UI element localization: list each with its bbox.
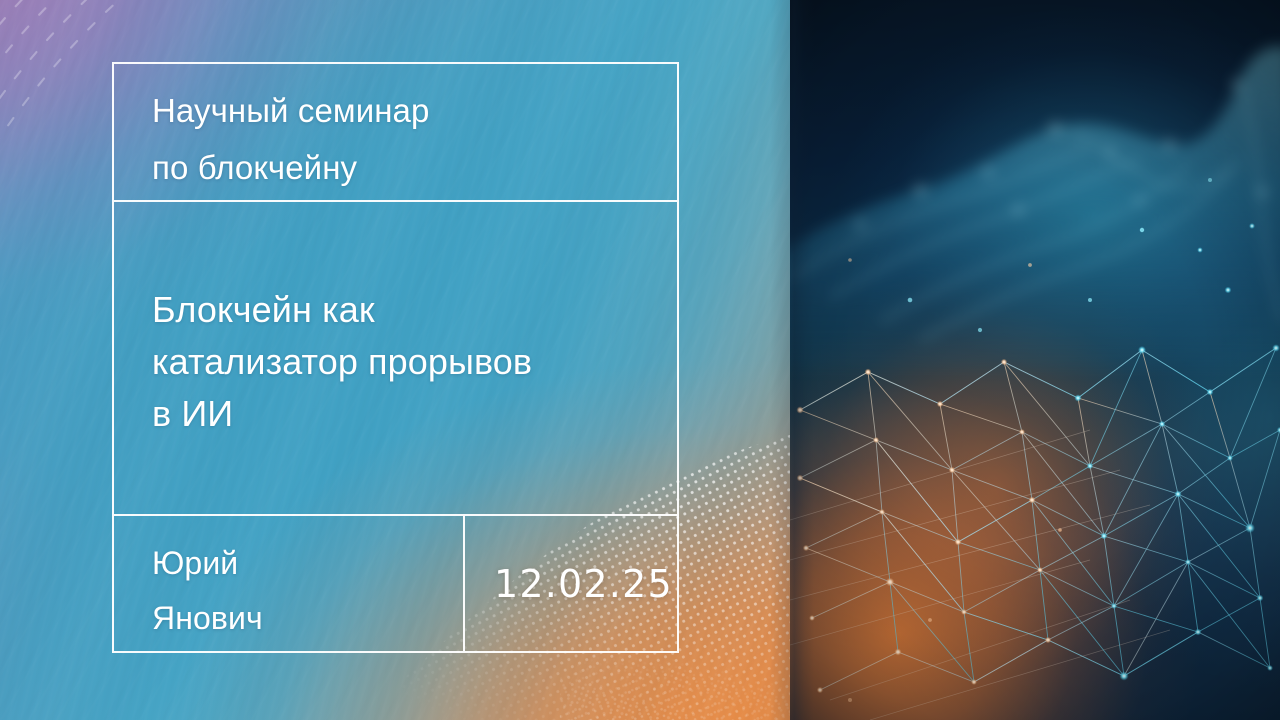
speaker-name: Юрий Янович <box>152 536 463 646</box>
title-frame: Научный семинар по блокчейну Блокчейн ка… <box>112 62 679 653</box>
author-cell: Юрий Янович <box>114 516 465 651</box>
meta-row: Юрий Янович 12.02.25 <box>114 516 677 651</box>
talk-title: Блокчейн как катализатор прорывов в ИИ <box>152 284 677 440</box>
subtitle-cell: Научный семинар по блокчейну <box>114 64 677 202</box>
talk-date: 12.02.25 <box>494 562 673 606</box>
right-network-panel <box>790 0 1280 720</box>
network-graph-overlay <box>790 0 1280 720</box>
date-cell: 12.02.25 <box>465 516 677 651</box>
title-cell: Блокчейн как катализатор прорывов в ИИ <box>114 202 677 516</box>
event-subtitle: Научный семинар по блокчейну <box>152 82 677 196</box>
presentation-slide: Научный семинар по блокчейну Блокчейн ка… <box>0 0 1280 720</box>
